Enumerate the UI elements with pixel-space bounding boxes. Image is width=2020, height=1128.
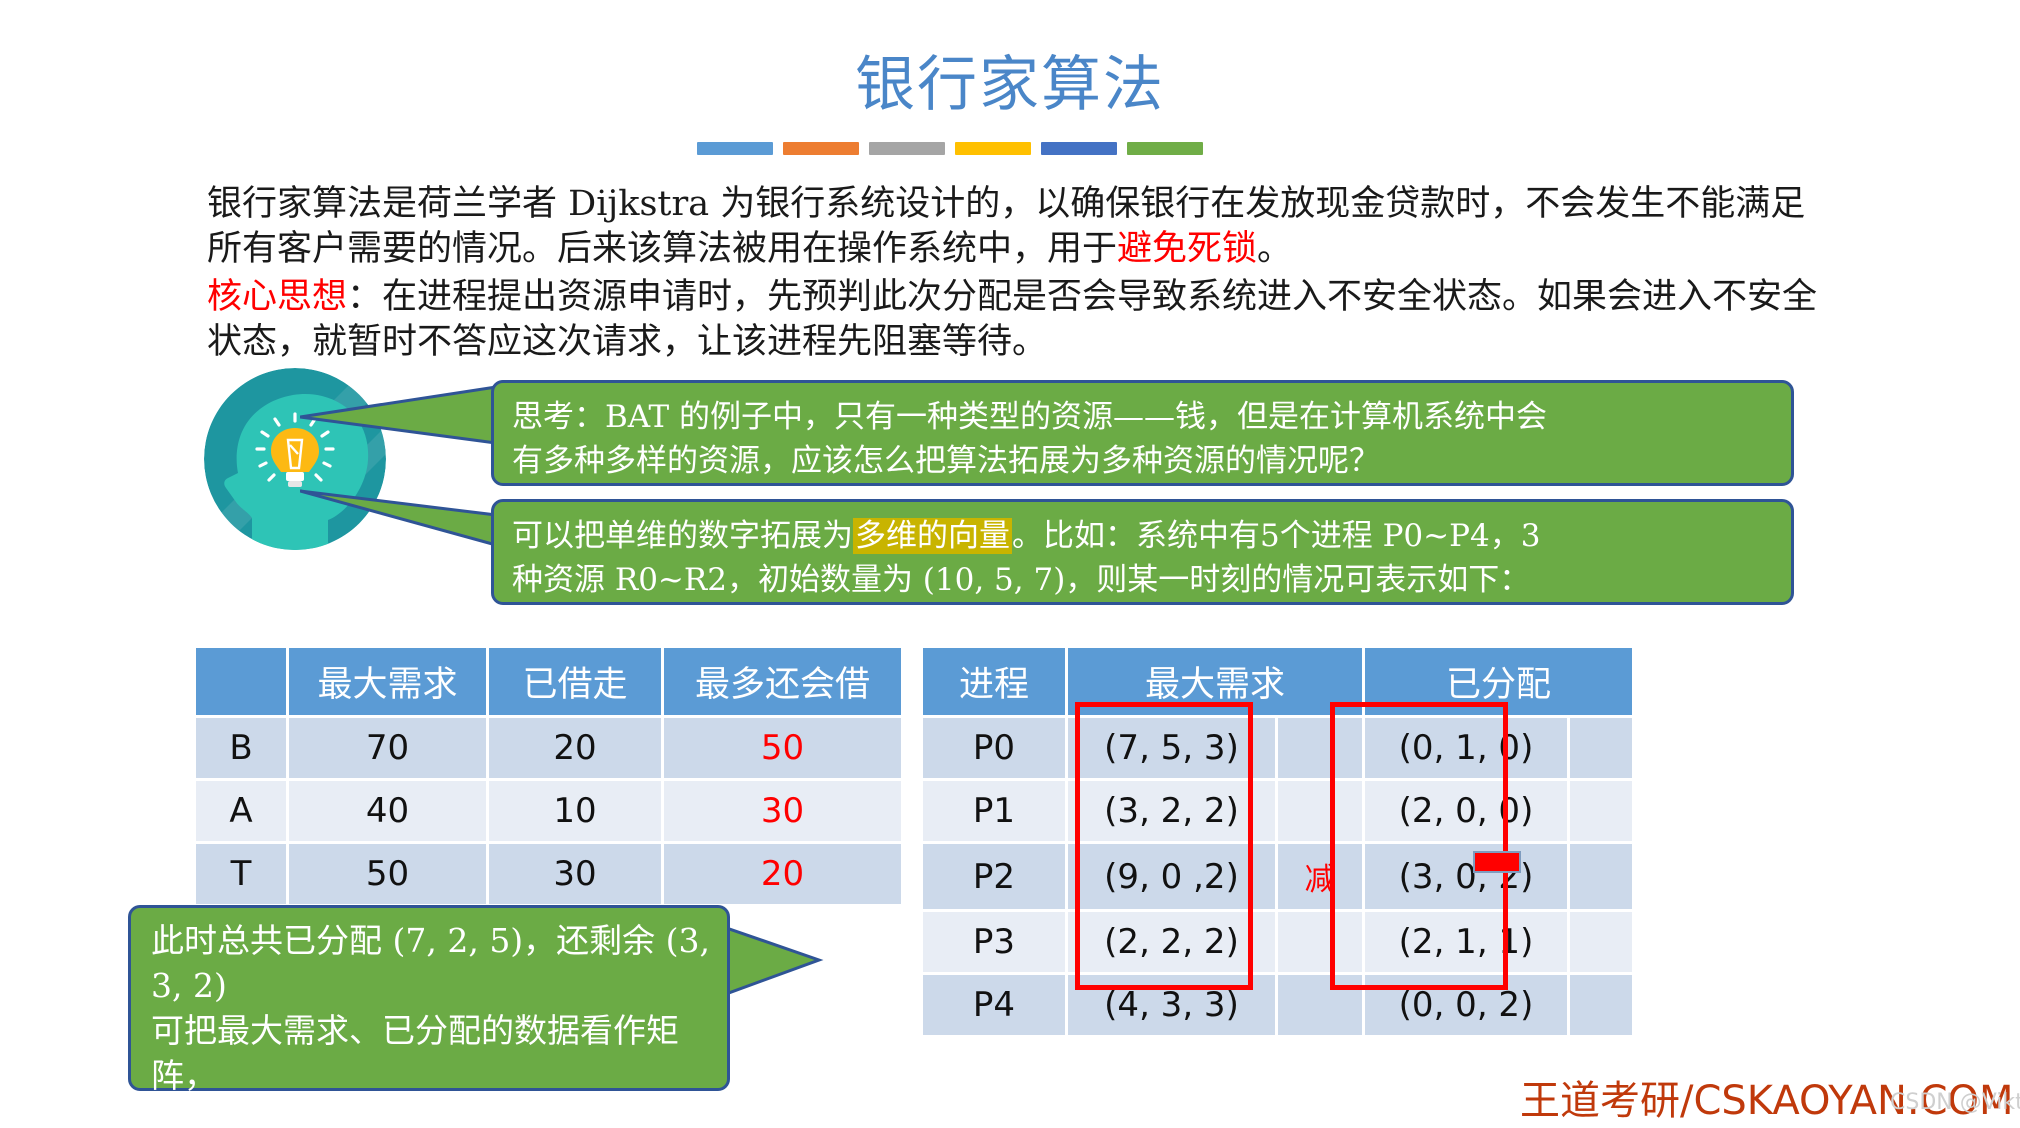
page-title: 银行家算法 [0,36,2020,123]
table-right-cell-marker [1570,718,1632,778]
table-right-cell-allocated: (2, 0, 0) [1365,781,1567,841]
table-right-cell-process: P2 [923,844,1065,909]
title-bar-3 [869,142,945,155]
table-header-row: 最大需求 已借走 最多还会借 [196,648,901,715]
callout-answer-line1-after: 。比如：系统中有5个进程 P0~P4，3 [1012,518,1540,554]
title-bar-5 [1041,142,1117,155]
table-right-cell-allocated: (2, 1, 1) [1365,912,1567,972]
title-decoration-bars [697,142,1203,155]
table-row: P1 (3, 2, 2) (2, 0, 0) [923,781,1632,841]
table-left-cell-remaining: 50 [664,718,901,778]
table-right-cell-max-demand: (3, 2, 2) [1068,781,1275,841]
table-left-cell-name: B [196,718,286,778]
intro-paragraph-period: 。 [1257,229,1292,269]
table-right-header-allocated: 已分配 [1365,648,1632,715]
table-left-cell-remaining: 20 [664,844,901,904]
table-right-cell-operator: 减 [1278,844,1362,909]
table-row: B 70 20 50 [196,718,901,778]
callout-summary-line3: 两矩阵相减，就可算出各进程最多还需 [151,1098,713,1128]
table-left-cell-borrowed: 10 [489,781,661,841]
callout-question-line1: 思考：BAT 的例子中，只有一种类型的资源——钱，但是在计算机系统中会 [512,395,1777,439]
table-left-cell-name: T [196,844,286,904]
core-idea-label: 核心思想 [207,277,347,317]
title-bar-2 [783,142,859,155]
slide-canvas: 银行家算法 银行家算法是荷兰学者 Dijkstra 为银行系统设计的，以确保银行… [0,0,2020,1128]
callout-answer-line2: 种资源 R0~R2，初始数量为 (10, 5, 7)，则某一时刻的情况可表示如下… [512,558,1777,602]
intro-paragraph: 银行家算法是荷兰学者 Dijkstra 为银行系统设计的，以确保银行在发放现金贷… [207,182,1837,272]
core-idea-text: ：在进程提出资源申请时，先预判此次分配是否会导致系统进入不安全状态。如果会进入不… [207,277,1817,362]
table-row: P3 (2, 2, 2) (2, 1, 1) [923,912,1632,972]
table-left-cell-borrowed: 30 [489,844,661,904]
table-right-cell-process: P4 [923,975,1065,1035]
table-right-cell-process: P0 [923,718,1065,778]
table-right-cell-marker [1570,975,1632,1035]
table-right-cell-marker [1570,844,1632,909]
table-left-cell-remaining: 30 [664,781,901,841]
table-right-cell-allocated: (3, 0, 2) [1365,844,1567,909]
table-row: P0 (7, 5, 3) (0, 1, 0) [923,718,1632,778]
callout-answer-line1: 可以把单维的数字拓展为多维的向量。比如：系统中有5个进程 P0~P4，3 [512,514,1777,558]
table-left-cell-name: A [196,781,286,841]
table-left-header-blank [196,648,286,715]
callout-tail-bottom [715,920,825,1010]
table-right-cell-allocated: (0, 0, 2) [1365,975,1567,1035]
table-right-header-process: 进程 [923,648,1065,715]
table-left-header-max-demand: 最大需求 [289,648,486,715]
table-right-cell-max-demand: (4, 3, 3) [1068,975,1275,1035]
callout-question-line2: 有多种多样的资源，应该怎么把算法拓展为多种资源的情况呢？ [512,439,1777,483]
title-bar-4 [955,142,1031,155]
table-left-cell-max: 70 [289,718,486,778]
table-right-cell-operator [1278,718,1362,778]
callout-answer-line1-before: 可以把单维的数字拓展为 [512,518,853,554]
callout-summary-line1: 此时总共已分配 (7, 2, 5)，还剩余 (3, 3, 2) [151,918,713,1008]
lightbulb-head-icon [204,368,386,550]
table-row: P4 (4, 3, 3) (0, 0, 2) [923,975,1632,1035]
callout-answer-highlight: 多维的向量 [853,518,1012,554]
table-left-header-borrowed: 已借走 [489,648,661,715]
table-right-cell-process: P3 [923,912,1065,972]
intro-paragraph-text: 银行家算法是荷兰学者 Dijkstra 为银行系统设计的，以确保银行在发放现金贷… [207,184,1805,269]
title-bar-6 [1127,142,1203,155]
table-right-cell-marker [1570,912,1632,972]
callout-summary: 此时总共已分配 (7, 2, 5)，还剩余 (3, 3, 2) 可把最大需求、已… [128,905,730,1091]
table-row: T 50 30 20 [196,844,901,904]
table-right-cell-process: P1 [923,781,1065,841]
table-right-cell-operator [1278,912,1362,972]
table-right-cell-max-demand: (7, 5, 3) [1068,718,1275,778]
table-left-cell-max: 40 [289,781,486,841]
title-bar-1 [697,142,773,155]
table-right-cell-max-demand: (9, 0 ,2) [1068,844,1275,909]
intro-paragraph-emphasis: 避免死锁 [1117,229,1257,269]
callout-question: 思考：BAT 的例子中，只有一种类型的资源——钱，但是在计算机系统中会 有多种多… [491,380,1794,486]
red-marker-chip [1473,851,1521,873]
table-left-header-remaining: 最多还会借 [664,648,901,715]
bank-example-table: 最大需求 已借走 最多还会借 B 70 20 50 A 40 10 30 T 5… [193,645,904,907]
callout-answer: 可以把单维的数字拓展为多维的向量。比如：系统中有5个进程 P0~P4，3 种资源… [491,499,1794,605]
table-right-cell-operator [1278,975,1362,1035]
table-right-header-max-demand: 最大需求 [1068,648,1362,715]
table-right-cell-marker [1570,781,1632,841]
table-left-cell-borrowed: 20 [489,718,661,778]
table-row: A 40 10 30 [196,781,901,841]
callout-summary-line2: 可把最大需求、已分配的数据看作矩阵， [151,1008,713,1098]
table-right-cell-allocated: (0, 1, 0) [1365,718,1567,778]
table-right-cell-operator [1278,781,1362,841]
process-resource-table: 进程 最大需求 已分配 P0 (7, 5, 3) (0, 1, 0) P1 (3… [920,645,1635,1038]
table-right-cell-max-demand: (2, 2, 2) [1068,912,1275,972]
table-header-row: 进程 最大需求 已分配 [923,648,1632,715]
table-row: P2 (9, 0 ,2) 减 (3, 0, 2) [923,844,1632,909]
core-idea-paragraph: 核心思想：在进程提出资源申请时，先预判此次分配是否会导致系统进入不安全状态。如果… [207,275,1837,365]
watermark-text: CSDN @Viktoriae [1890,1090,2020,1115]
table-left-cell-max: 50 [289,844,486,904]
